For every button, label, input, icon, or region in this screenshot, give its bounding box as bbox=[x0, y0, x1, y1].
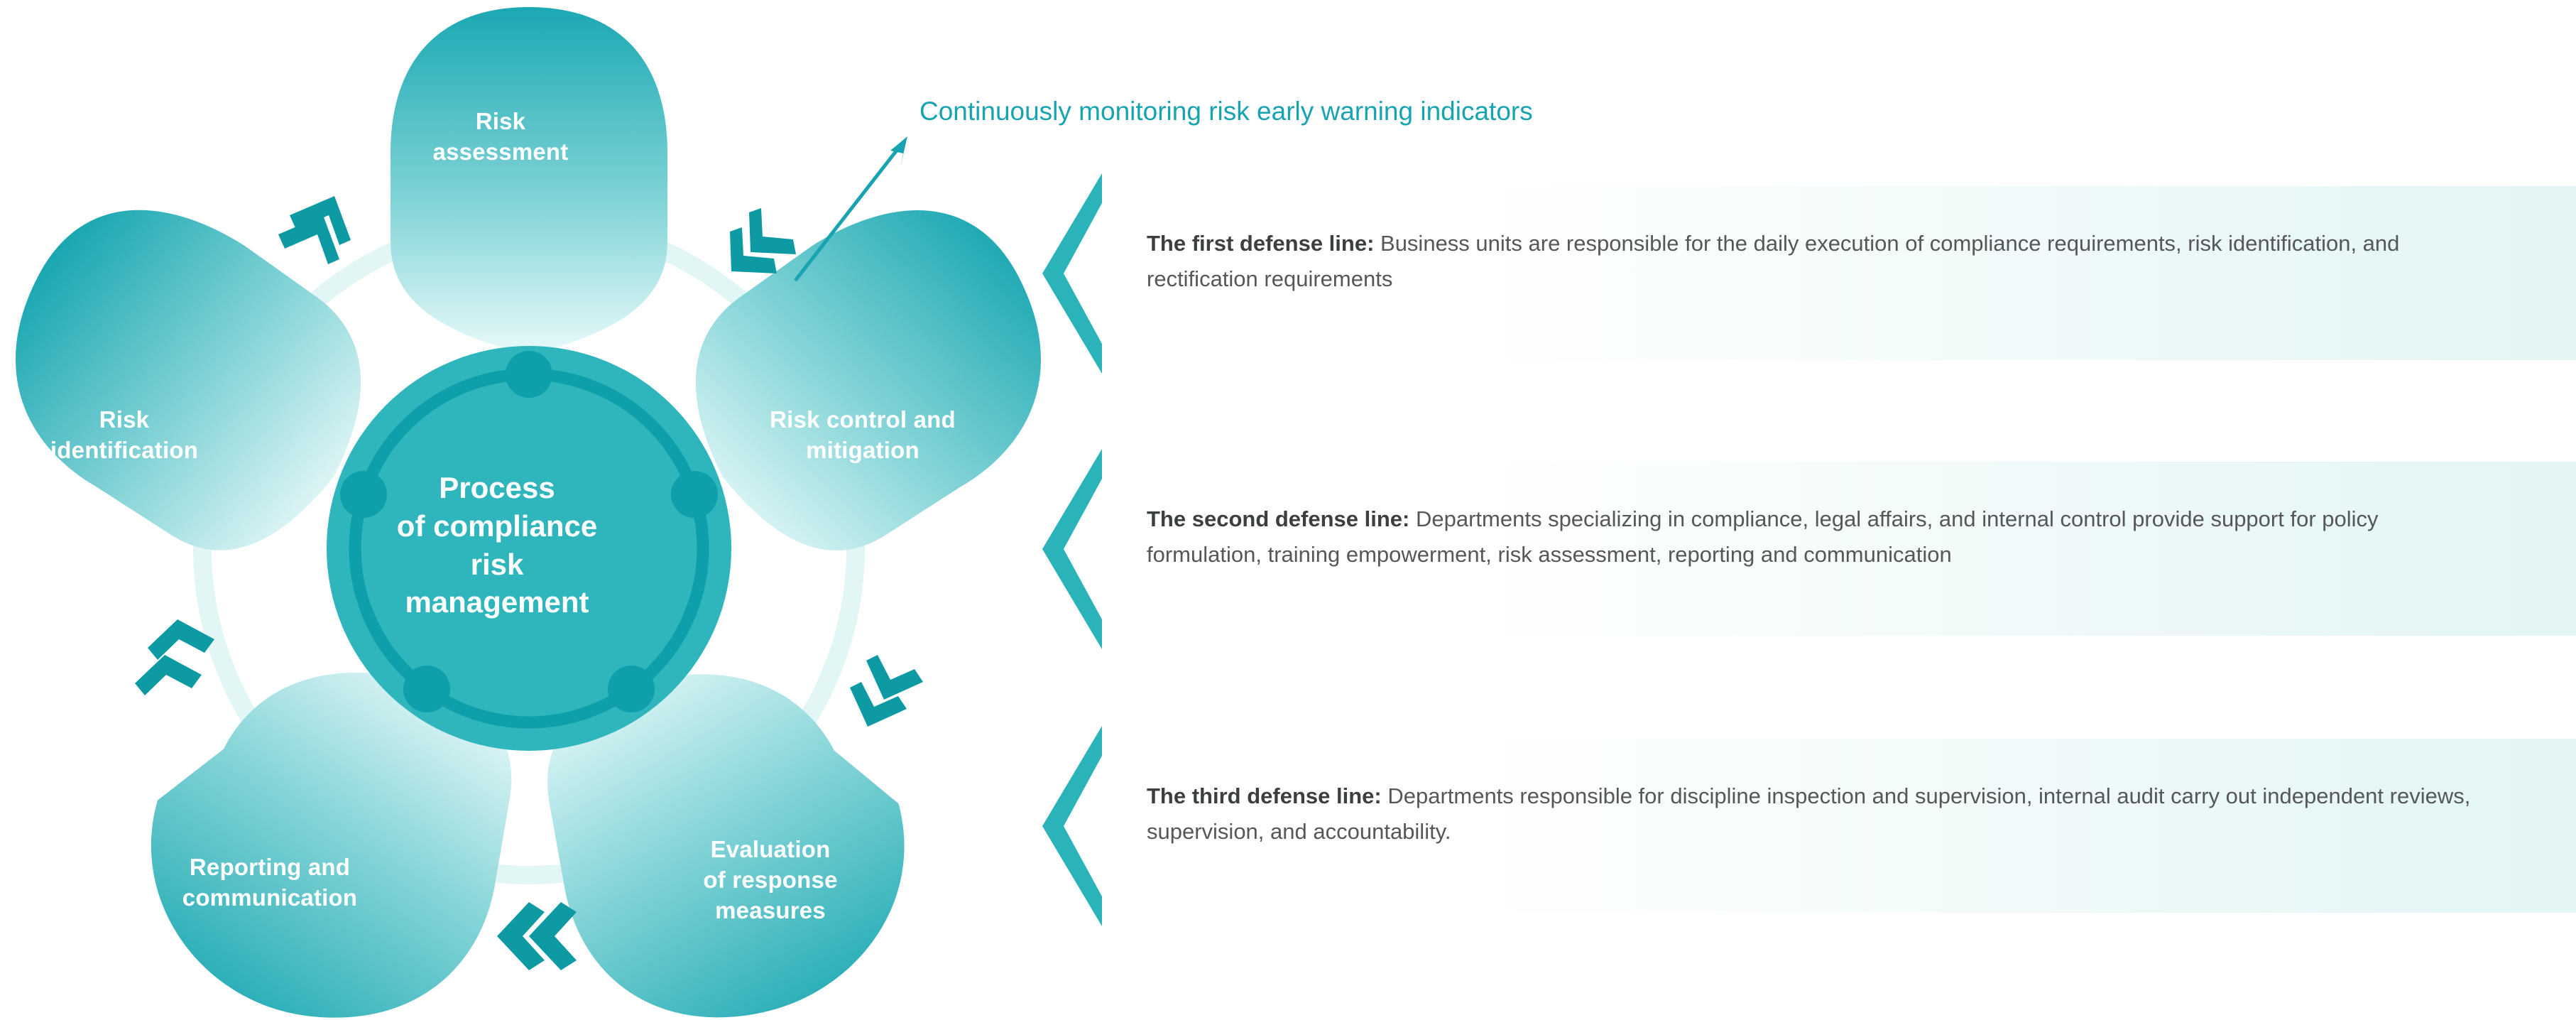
chevron-arrow-bottom bbox=[497, 902, 577, 970]
panel-title: The third defense line: bbox=[1147, 783, 1382, 808]
compliance-cycle-diagram: Risk assessment Risk control and mitigat… bbox=[0, 0, 1051, 1020]
chevron-arrow-upper-right bbox=[730, 208, 796, 273]
panel-text: The first defense line: Business units a… bbox=[1147, 226, 2491, 297]
defense-line-panel-second[interactable]: The second defense line: Departments spe… bbox=[1037, 462, 2576, 636]
defense-line-panel-first[interactable]: The first defense line: Business units a… bbox=[1037, 186, 2576, 360]
chevron-bracket-icon bbox=[1037, 173, 1115, 374]
diagram-graphics bbox=[0, 0, 1051, 1020]
panel-title: The second defense line: bbox=[1147, 506, 1409, 531]
hub-node-right bbox=[671, 471, 718, 518]
chevron-arrow-upper-left bbox=[278, 196, 351, 264]
panel-text: The second defense line: Departments spe… bbox=[1147, 501, 2491, 573]
petal-risk-assessment bbox=[391, 7, 667, 355]
hub-node-bottom-right bbox=[608, 666, 655, 712]
chevron-arrow-lower-right bbox=[850, 655, 923, 727]
panel-title: The first defense line: bbox=[1147, 231, 1374, 256]
chevron-arrow-lower-left bbox=[135, 619, 214, 695]
hub-node-left bbox=[340, 471, 387, 518]
chevron-bracket-icon bbox=[1037, 726, 1115, 926]
panel-text: The third defense line: Departments resp… bbox=[1147, 778, 2491, 850]
hub-disc bbox=[327, 346, 731, 751]
slide-canvas: Risk assessment Risk control and mitigat… bbox=[0, 0, 2576, 1020]
defense-line-panel-third[interactable]: The third defense line: Departments resp… bbox=[1037, 739, 2576, 913]
hub-node-top bbox=[506, 351, 552, 398]
chevron-bracket-icon bbox=[1037, 449, 1115, 649]
hub-node-bottom-left bbox=[403, 666, 450, 712]
defense-lines-list: The first defense line: Business units a… bbox=[1037, 0, 2576, 1020]
